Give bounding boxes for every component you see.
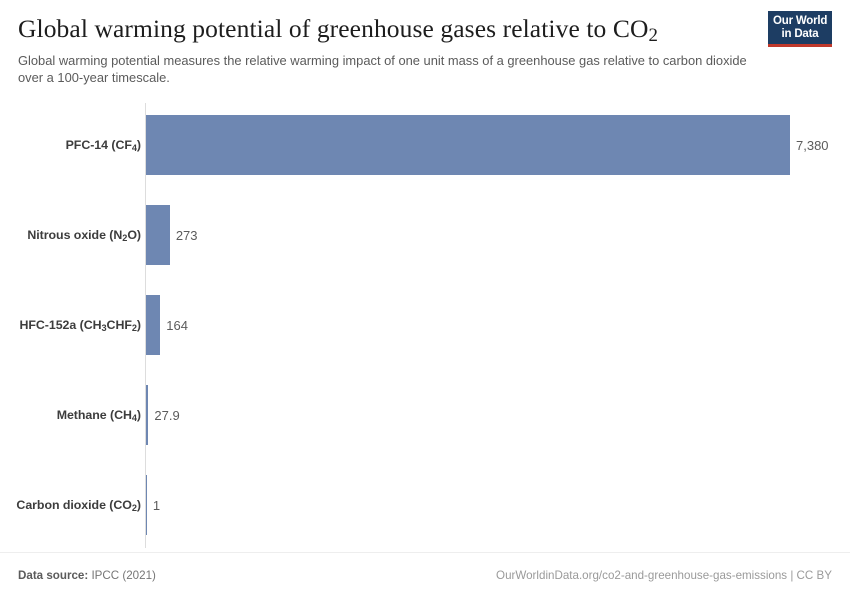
bar-row[interactable]: PFC-14 (CF4)7,380 (0, 100, 850, 190)
chart-footer: Data source: IPCC (2021) OurWorldinData.… (0, 552, 850, 600)
bar[interactable] (146, 295, 160, 355)
data-source-label: Data source: (18, 569, 88, 582)
bar-and-value: 164 (146, 295, 188, 355)
bar[interactable] (146, 385, 148, 445)
bar-category-label: Carbon dioxide (CO2) (16, 498, 141, 512)
bar-category-label: Nitrous oxide (N2O) (27, 228, 141, 242)
bar-row[interactable]: Carbon dioxide (CO2)1 (0, 460, 850, 550)
bar-and-value: 273 (146, 205, 198, 265)
bar-rows-container: PFC-14 (CF4)7,380Nitrous oxide (N2O)273H… (0, 100, 850, 550)
our-world-in-data-logo[interactable]: Our World in Data (768, 11, 832, 47)
bar-row[interactable]: HFC-152a (CH3CHF2)164 (0, 280, 850, 370)
data-source-value: IPCC (2021) (88, 569, 156, 582)
chart-plot-area: PFC-14 (CF4)7,380Nitrous oxide (N2O)273H… (0, 100, 850, 550)
bar[interactable] (146, 205, 170, 265)
chart-header: Global warming potential of greenhouse g… (0, 0, 850, 96)
bar[interactable] (146, 115, 790, 175)
chart-subtitle: Global warming potential measures the re… (18, 53, 753, 86)
page-title-text: Global warming potential of greenhouse g… (18, 14, 648, 43)
bar-category-label: HFC-152a (CH3CHF2) (19, 318, 141, 332)
attribution-link[interactable]: OurWorldinData.org/co2-and-greenhouse-ga… (496, 569, 832, 582)
bar-value-label: 27.9 (154, 408, 179, 423)
bar[interactable] (146, 475, 147, 535)
logo-line-one: Our World (773, 15, 827, 28)
logo-line-two: in Data (773, 28, 827, 41)
bar-value-label: 164 (166, 318, 188, 333)
bar-row[interactable]: Methane (CH4)27.9 (0, 370, 850, 460)
bar-value-label: 1 (153, 498, 160, 513)
bar-category-label: PFC-14 (CF4) (66, 138, 141, 152)
bar-and-value: 7,380 (146, 115, 829, 175)
bar-value-label: 7,380 (796, 138, 829, 153)
bar-and-value: 1 (146, 475, 160, 535)
bar-row[interactable]: Nitrous oxide (N2O)273 (0, 190, 850, 280)
page-title-subscript: 2 (648, 25, 658, 46)
bar-and-value: 27.9 (146, 385, 180, 445)
page-title: Global warming potential of greenhouse g… (18, 14, 832, 47)
bar-category-label: Methane (CH4) (57, 408, 141, 422)
bar-value-label: 273 (176, 228, 198, 243)
data-source: Data source: IPCC (2021) (18, 569, 156, 582)
